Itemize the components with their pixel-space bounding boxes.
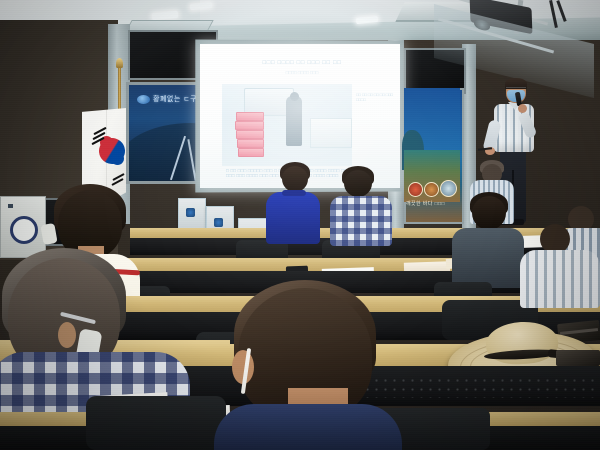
slide-photo-sack bbox=[237, 139, 264, 148]
flag-pole bbox=[118, 64, 121, 110]
lecture-hall-photo: 황폐없는 ㄷ구 □□□ □□□□ □□ □□□ □□ □□ □□□□ □□□□ … bbox=[0, 0, 600, 450]
attendee-head bbox=[472, 196, 506, 230]
taeguk-dot-blue bbox=[111, 152, 124, 165]
control-unit-led-icon bbox=[8, 204, 13, 208]
attendee-collar bbox=[282, 190, 306, 196]
info-panel-logo-icon bbox=[137, 95, 150, 104]
organization-logo-icon bbox=[186, 208, 195, 217]
attendee-checkered-shirt bbox=[330, 196, 392, 246]
slide-photo-worker-head bbox=[290, 92, 299, 101]
info-panel-text: 황폐없는 ㄷ구 bbox=[153, 94, 197, 104]
poster-badge-icon bbox=[424, 182, 439, 197]
flag-finial bbox=[116, 58, 123, 68]
attendee-head bbox=[282, 166, 308, 192]
poster-badge-icon bbox=[440, 180, 457, 197]
slide-photo-table bbox=[310, 118, 352, 148]
attendee-front-right bbox=[520, 250, 600, 308]
notebook bbox=[556, 350, 600, 366]
attendee-ear bbox=[58, 322, 76, 348]
attendee-blue-shirt bbox=[266, 192, 320, 244]
poster-caption: 깨끗한 바다 □□□ bbox=[406, 200, 458, 207]
organization-logo-icon bbox=[214, 218, 223, 227]
attendee-head bbox=[344, 170, 372, 197]
slide-title: □□□ □□□□ □□ □□□ □□ □□ bbox=[238, 60, 366, 67]
slide-photo-sack bbox=[236, 130, 264, 139]
attendee-grey-top bbox=[452, 228, 524, 288]
office-chair bbox=[86, 396, 226, 450]
slide-photo-sack bbox=[236, 112, 264, 121]
presenter-right-hand bbox=[518, 104, 527, 113]
slide-photo-sack bbox=[238, 148, 264, 157]
control-unit-dial-icon bbox=[10, 216, 38, 244]
poster-badge-icon bbox=[408, 182, 423, 197]
attendee-navy-shirt bbox=[214, 404, 402, 450]
slide-side-text: □□ □□ □□ □□ □□ □□□ □□□□ bbox=[356, 92, 398, 102]
slide-photo-worker bbox=[286, 96, 302, 146]
slide-subtitle: □□□□ □□□□ □□□ bbox=[252, 70, 352, 75]
slide-photo-sack bbox=[235, 121, 264, 130]
